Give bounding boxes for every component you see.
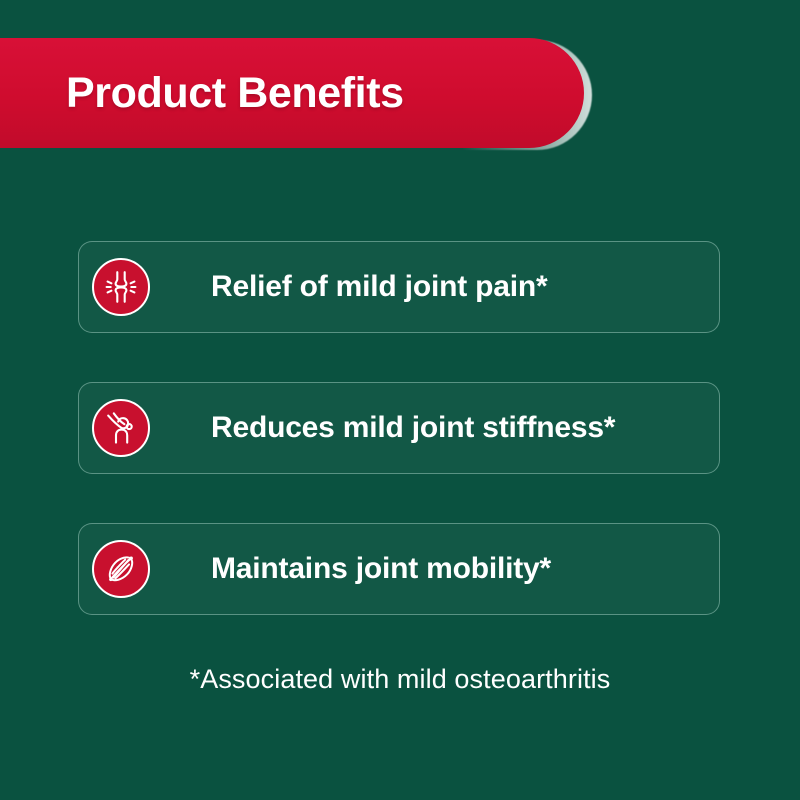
joint-flexion-icon <box>92 399 150 457</box>
joint-pain-icon <box>92 258 150 316</box>
muscle-fiber-icon <box>92 540 150 598</box>
header-banner: Product Benefits <box>0 38 592 148</box>
page-title: Product Benefits <box>66 72 404 115</box>
benefit-label: Maintains joint mobility* <box>211 553 551 585</box>
benefit-label: Relief of mild joint pain* <box>211 271 547 303</box>
benefits-list: Relief of mild joint pain* Reduces <box>78 241 720 615</box>
benefit-card-joint-stiffness: Reduces mild joint stiffness* <box>78 382 720 474</box>
benefit-label: Reduces mild joint stiffness* <box>211 412 615 444</box>
benefit-card-joint-pain: Relief of mild joint pain* <box>78 241 720 333</box>
footnote-text: *Associated with mild osteoarthritis <box>0 664 800 695</box>
banner-pill: Product Benefits <box>0 38 584 148</box>
benefit-card-joint-mobility: Maintains joint mobility* <box>78 523 720 615</box>
